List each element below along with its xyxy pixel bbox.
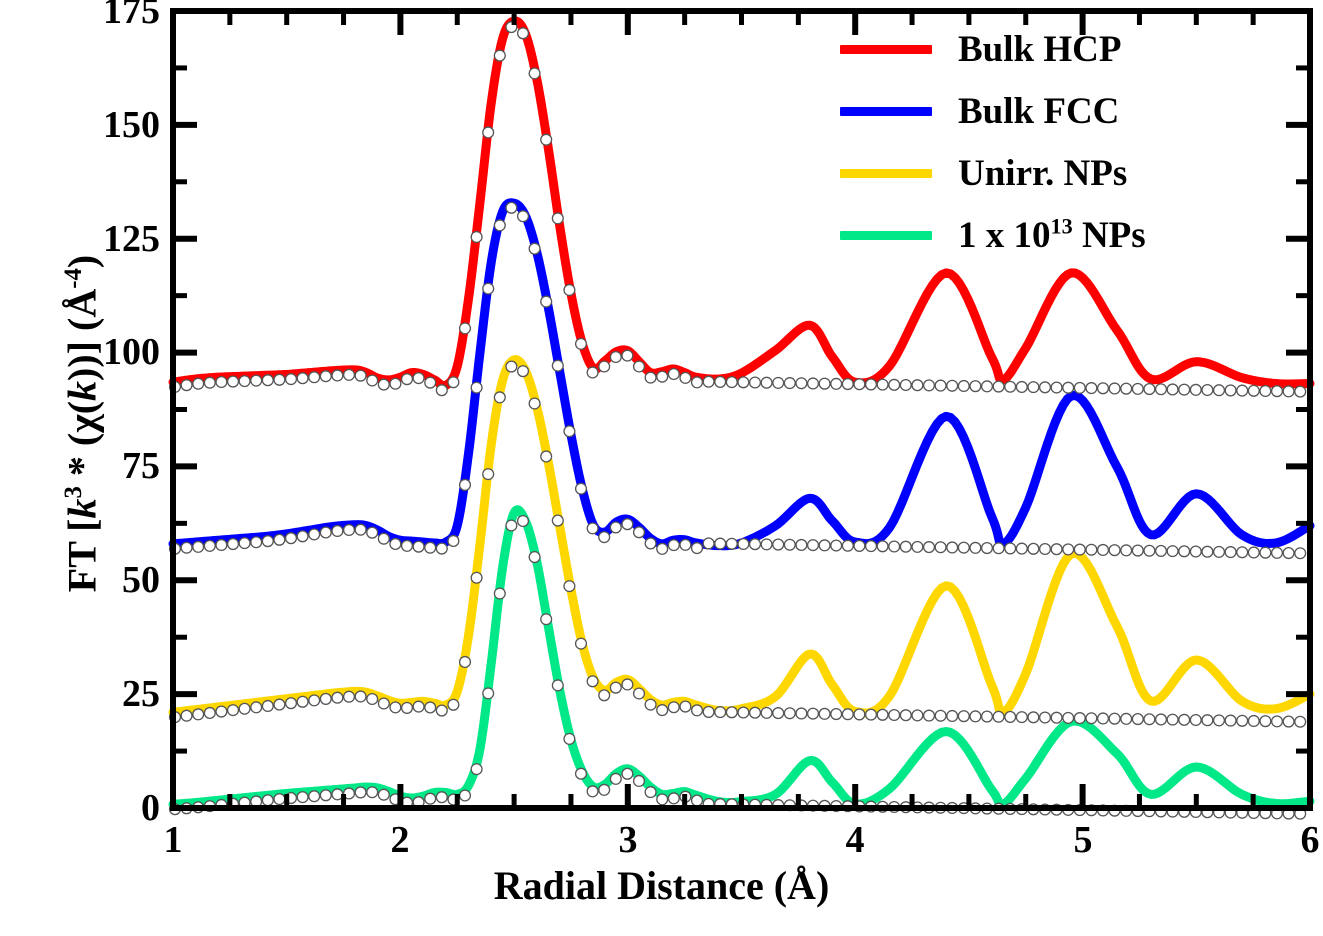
data-point: [564, 733, 575, 744]
data-point: [958, 381, 969, 392]
data-point: [808, 378, 819, 389]
data-point: [1248, 547, 1259, 558]
x-tick-label-1: 1: [133, 818, 213, 862]
data-point: [436, 385, 447, 396]
data-point: [599, 532, 610, 543]
data-point: [471, 764, 482, 775]
data-point: [1028, 382, 1039, 393]
data-point: [1156, 714, 1167, 725]
data-point: [1260, 716, 1271, 727]
legend-swatch-bulk-hcp: [840, 45, 932, 54]
data-point: [239, 376, 250, 387]
data-point: [460, 480, 471, 491]
data-point: [564, 426, 575, 437]
data-point: [854, 709, 865, 720]
legend: Bulk HCP Bulk FCC Unirr. NPs 1 x 1013 NP…: [840, 18, 1310, 266]
data-point: [1074, 544, 1085, 555]
data-point: [460, 790, 471, 801]
data-point: [1260, 386, 1271, 397]
data-point: [958, 711, 969, 722]
data-point: [668, 702, 679, 713]
data-point: [982, 381, 993, 392]
data-point: [1272, 716, 1283, 727]
data-point: [1074, 713, 1085, 724]
data-point: [355, 787, 366, 798]
data-point: [634, 688, 645, 699]
data-point: [947, 542, 958, 553]
legend-swatch-irradiated-nps: [840, 231, 932, 240]
data-point: [1214, 385, 1225, 396]
data-point: [1179, 384, 1190, 395]
data-point: [808, 540, 819, 551]
data-point: [390, 539, 401, 550]
data-point: [982, 543, 993, 554]
data-point: [1295, 386, 1306, 397]
data-point: [1063, 544, 1074, 555]
data-point: [367, 527, 378, 538]
data-point: [889, 710, 900, 721]
data-point: [193, 709, 204, 720]
y-title-mult: * (: [60, 433, 105, 486]
data-point: [552, 213, 563, 224]
data-point: [750, 707, 761, 718]
data-point: [622, 679, 633, 690]
data-point: [541, 451, 552, 462]
data-point: [738, 377, 749, 388]
data-point: [610, 522, 621, 533]
data-point: [1063, 382, 1074, 393]
legend-label-irradiated-tail: NPs: [1073, 215, 1146, 256]
data-point: [831, 540, 842, 551]
data-point: [1040, 544, 1051, 555]
data-point: [1016, 712, 1027, 723]
data-point: [610, 773, 621, 784]
data-point: [622, 768, 633, 779]
data-point: [425, 542, 436, 553]
y-title-angstrom: Å: [60, 289, 105, 318]
data-point: [355, 524, 366, 535]
data-point: [970, 711, 981, 722]
data-point: [726, 707, 737, 718]
data-point: [842, 709, 853, 720]
data-point: [657, 705, 668, 716]
data-point: [703, 707, 714, 718]
data-point: [297, 531, 308, 542]
data-point: [216, 706, 227, 717]
data-point: [831, 378, 842, 389]
data-point: [1051, 544, 1062, 555]
data-point: [680, 373, 691, 384]
data-point: [645, 372, 656, 383]
data-point: [738, 707, 749, 718]
data-point: [703, 376, 714, 387]
data-point: [1272, 386, 1283, 397]
data-point: [1283, 716, 1294, 727]
data-point: [773, 708, 784, 719]
data-point: [599, 784, 610, 795]
data-point: [819, 378, 830, 389]
data-point: [715, 538, 726, 549]
data-point: [402, 703, 413, 714]
data-point: [750, 539, 761, 550]
x-axis-title-prefix: Radial Distance (: [494, 863, 787, 908]
data-point: [715, 377, 726, 388]
data-point: [1040, 712, 1051, 723]
legend-item-irradiated-nps: 1 x 1013 NPs: [840, 204, 1310, 266]
data-point: [413, 701, 424, 712]
data-point: [204, 541, 215, 552]
data-point: [761, 539, 772, 550]
data-point: [193, 541, 204, 552]
x-tick-label-4: 4: [815, 818, 895, 862]
data-point: [1295, 716, 1306, 727]
data-point: [935, 380, 946, 391]
data-point: [1190, 546, 1201, 557]
data-point: [483, 688, 494, 699]
data-point: [622, 519, 633, 530]
data-point: [866, 541, 877, 552]
data-point: [773, 539, 784, 550]
data-point: [1179, 714, 1190, 725]
data-point: [1260, 547, 1271, 558]
data-point: [900, 380, 911, 391]
legend-label-bulk-hcp: Bulk HCP: [958, 28, 1121, 71]
data-point: [854, 541, 865, 552]
data-point: [1098, 713, 1109, 724]
data-point: [181, 542, 192, 553]
data-point: [1132, 714, 1143, 725]
data-point: [274, 699, 285, 710]
data-point: [970, 542, 981, 553]
data-point: [761, 707, 772, 718]
data-point: [506, 520, 517, 531]
data-point: [425, 702, 436, 713]
data-point: [1144, 714, 1155, 725]
data-point: [506, 361, 517, 372]
data-point: [599, 690, 610, 701]
y-title-chi: χ(: [60, 401, 105, 433]
data-point: [924, 710, 935, 721]
data-point: [982, 711, 993, 722]
data-point: [402, 540, 413, 551]
data-point: [947, 380, 958, 391]
data-point: [1086, 544, 1097, 555]
data-point: [726, 538, 737, 549]
data-point: [332, 526, 343, 537]
data-point: [738, 539, 749, 550]
data-point: [1074, 383, 1085, 394]
data-point: [297, 696, 308, 707]
data-point: [970, 381, 981, 392]
data-point: [750, 377, 761, 388]
data-point: [297, 792, 308, 803]
data-point: [634, 361, 645, 372]
data-point: [216, 540, 227, 551]
data-point: [332, 370, 343, 381]
data-point: [286, 374, 297, 385]
x-tick-label-6: 6: [1270, 818, 1323, 862]
data-point: [889, 541, 900, 552]
data-point: [784, 539, 795, 550]
data-point: [1063, 712, 1074, 723]
data-point: [541, 296, 552, 307]
data-point: [390, 378, 401, 389]
data-point: [494, 50, 505, 61]
data-point: [715, 707, 726, 718]
data-point: [518, 516, 529, 527]
data-point: [309, 695, 320, 706]
data-point: [1040, 382, 1051, 393]
data-point: [1167, 384, 1178, 395]
data-point: [448, 377, 459, 388]
data-point: [877, 379, 888, 390]
data-point: [692, 795, 703, 806]
data-point: [1237, 385, 1248, 396]
data-point: [1272, 547, 1283, 558]
data-point: [947, 711, 958, 722]
data-point: [344, 525, 355, 536]
data-point: [1051, 712, 1062, 723]
data-point: [819, 708, 830, 719]
data-point: [320, 527, 331, 538]
data-point: [552, 360, 563, 371]
data-point: [425, 793, 436, 804]
data-point: [1121, 383, 1132, 394]
data-point: [460, 323, 471, 334]
data-point: [1016, 382, 1027, 393]
data-point: [645, 699, 656, 710]
data-point: [808, 708, 819, 719]
data-point: [1144, 384, 1155, 395]
data-point: [193, 378, 204, 389]
data-point: [367, 694, 378, 705]
data-point: [773, 377, 784, 388]
data-point: [668, 793, 679, 804]
data-point: [645, 787, 656, 798]
y-title-close: ))] (: [60, 318, 105, 381]
data-point: [436, 792, 447, 803]
data-point: [471, 232, 482, 243]
data-point: [529, 398, 540, 409]
data-point: [634, 776, 645, 787]
data-point: [1086, 383, 1097, 394]
data-point: [796, 540, 807, 551]
data-point: [320, 694, 331, 705]
data-point: [181, 710, 192, 721]
data-point: [993, 381, 1004, 392]
data-point: [1248, 716, 1259, 727]
data-point: [912, 710, 923, 721]
y-title-ft: FT [: [60, 518, 105, 592]
data-point: [320, 790, 331, 801]
data-point: [1225, 385, 1236, 396]
data-point: [518, 366, 529, 377]
data-point: [634, 527, 645, 538]
data-point: [1202, 546, 1213, 557]
data-point: [993, 711, 1004, 722]
data-point: [355, 370, 366, 381]
data-point: [993, 543, 1004, 554]
data-point: [610, 682, 621, 693]
data-point: [587, 786, 598, 797]
data-point: [518, 28, 529, 39]
data-point: [576, 483, 587, 494]
data-point: [228, 539, 239, 550]
data-point: [1028, 712, 1039, 723]
data-point: [436, 543, 447, 554]
data-point: [471, 382, 482, 393]
data-point: [529, 68, 540, 79]
data-point: [1098, 545, 1109, 556]
data-point: [518, 211, 529, 222]
data-point: [692, 543, 703, 554]
data-point: [344, 691, 355, 702]
data-point: [726, 377, 737, 388]
data-point: [262, 795, 273, 806]
legend-label-bulk-fcc: Bulk FCC: [958, 90, 1119, 133]
data-point: [204, 377, 215, 388]
data-point: [483, 283, 494, 294]
data-point: [900, 710, 911, 721]
data-point: [842, 540, 853, 551]
data-point: [1156, 384, 1167, 395]
data-point: [425, 377, 436, 388]
data-point: [552, 680, 563, 691]
data-point: [494, 588, 505, 599]
data-point: [692, 705, 703, 716]
legend-label-unirr-nps: Unirr. NPs: [958, 152, 1127, 195]
data-point: [877, 541, 888, 552]
data-point: [262, 375, 273, 386]
data-point: [251, 375, 262, 386]
data-point: [483, 469, 494, 480]
data-point: [587, 367, 598, 378]
data-point: [1237, 547, 1248, 558]
data-point: [1098, 383, 1109, 394]
data-point: [924, 380, 935, 391]
data-point: [1005, 712, 1016, 723]
data-point: [228, 705, 239, 716]
data-point: [309, 529, 320, 540]
data-point: [610, 352, 621, 363]
data-point: [819, 540, 830, 551]
y-title-end: ): [60, 255, 105, 268]
data-point: [483, 127, 494, 138]
data-point: [1202, 385, 1213, 396]
data-point: [552, 515, 563, 526]
data-point: [912, 541, 923, 552]
data-point: [576, 768, 587, 779]
data-point: [274, 374, 285, 385]
data-point: [413, 373, 424, 384]
data-point: [378, 789, 389, 800]
exafs-fourier-transform-chart: 175 150 125 100 75 50 25 0 1 2 3 4 5 6 R…: [0, 0, 1323, 936]
data-point: [436, 705, 447, 716]
data-point: [576, 338, 587, 349]
data-point: [309, 791, 320, 802]
data-point: [448, 699, 459, 710]
data-point: [251, 537, 262, 548]
data-point: [274, 534, 285, 545]
data-point: [1214, 715, 1225, 726]
data-point: [1202, 715, 1213, 726]
data-point: [367, 787, 378, 798]
data-point: [262, 536, 273, 547]
data-point: [564, 285, 575, 296]
legend-item-bulk-fcc: Bulk FCC: [840, 80, 1310, 142]
data-point: [1121, 713, 1132, 724]
data-point: [924, 542, 935, 553]
data-point: [866, 709, 877, 720]
data-point: [1109, 383, 1120, 394]
data-point: [448, 536, 459, 547]
data-point: [587, 523, 598, 534]
legend-swatch-bulk-fcc: [840, 107, 932, 116]
data-point: [680, 539, 691, 550]
data-point: [506, 202, 517, 213]
data-point: [668, 540, 679, 551]
data-point: [1005, 381, 1016, 392]
x-tick-label-2: 2: [360, 818, 440, 862]
data-point: [1237, 715, 1248, 726]
fit-line-2: [173, 360, 1310, 713]
data-point: [622, 350, 633, 361]
data-point: [1121, 545, 1132, 556]
data-point: [1005, 543, 1016, 554]
x-tick-label-5: 5: [1043, 818, 1123, 862]
data-point: [912, 380, 923, 391]
data-point: [900, 541, 911, 552]
data-point: [204, 708, 215, 719]
data-point: [1156, 546, 1167, 557]
x-axis-title-unit: Å: [787, 863, 816, 908]
data-point: [529, 243, 540, 254]
data-point: [1109, 545, 1120, 556]
data-point: [587, 676, 598, 687]
data-point: [413, 541, 424, 552]
data-point: [228, 376, 239, 387]
legend-label-irradiated-exp: 13: [1051, 213, 1073, 238]
data-point: [344, 369, 355, 380]
data-point: [460, 657, 471, 668]
data-point: [1132, 383, 1143, 394]
data-point: [1051, 382, 1062, 393]
data-point: [1214, 546, 1225, 557]
data-point: [1028, 543, 1039, 554]
data-point: [1283, 548, 1294, 559]
data-point: [599, 361, 610, 372]
data-point: [877, 709, 888, 720]
data-point: [831, 709, 842, 720]
data-point: [181, 380, 192, 391]
y-title-k1: k: [60, 498, 105, 518]
data-point: [286, 698, 297, 709]
data-point: [1225, 715, 1236, 726]
legend-label-irradiated-base: 1 x 10: [958, 215, 1051, 256]
data-point: [1132, 545, 1143, 556]
data-point: [390, 702, 401, 713]
data-point: [320, 371, 331, 382]
data-point: [889, 379, 900, 390]
data-point: [958, 542, 969, 553]
data-point: [367, 375, 378, 386]
data-point: [1190, 715, 1201, 726]
legend-swatch-unirr-nps: [840, 169, 932, 178]
y-title-exp3: 3: [60, 486, 87, 498]
data-point: [1190, 384, 1201, 395]
data-point: [286, 533, 297, 544]
data-point: [378, 698, 389, 709]
